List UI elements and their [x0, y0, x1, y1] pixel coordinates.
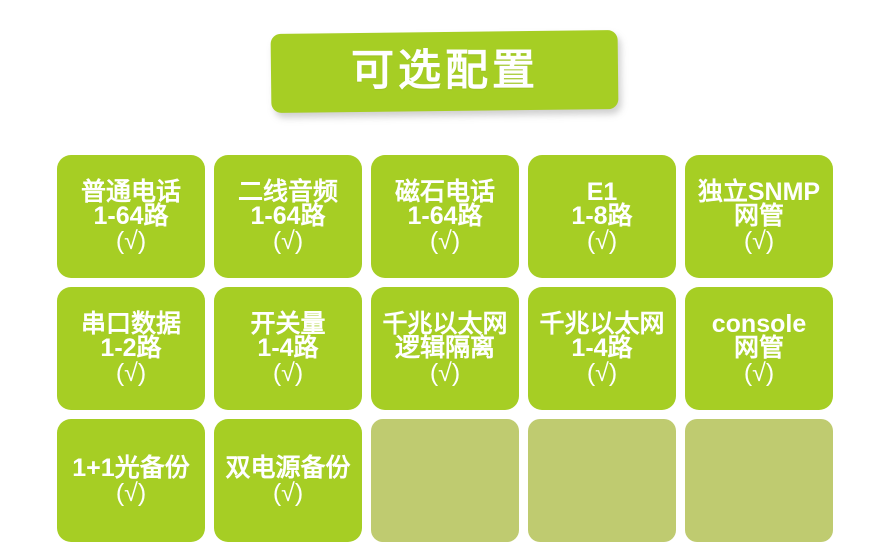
check-mark-label: (√) [57, 361, 205, 386]
card-two-wire-audio[interactable]: 二线音频1-64路(√) [214, 155, 362, 278]
card-line-label: 磁石电话 [371, 180, 519, 205]
card-line-label: 网管 [685, 336, 833, 361]
card-line-label: 1-8路 [528, 204, 676, 229]
card-plain-telephone[interactable]: 普通电话1-64路(√) [57, 155, 205, 278]
page-title: 可选配置 [351, 50, 539, 93]
card-line-label: 网管 [685, 204, 833, 229]
title-banner-shape: 可选配置 [271, 30, 619, 113]
card-row: 串口数据1-2路(√)开关量1-4路(√)千兆以太网逻辑隔离(√)千兆以太网1-… [57, 287, 835, 410]
card-standalone-snmp[interactable]: 独立SNMP网管(√) [685, 155, 833, 278]
check-mark-label: (√) [371, 229, 519, 254]
card-serial-data[interactable]: 串口数据1-2路(√) [57, 287, 205, 410]
card-gigabit-ethernet-logic-isolation[interactable]: 千兆以太网逻辑隔离(√) [371, 287, 519, 410]
card-line-label: 1-64路 [57, 204, 205, 229]
card-text: 千兆以太网逻辑隔离(√) [371, 312, 519, 386]
check-mark-label: (√) [214, 229, 362, 254]
card-text: console网管(√) [685, 312, 833, 386]
card-console-management[interactable]: console网管(√) [685, 287, 833, 410]
check-mark-label: (√) [214, 361, 362, 386]
check-mark-label: (√) [528, 229, 676, 254]
card-line-label: 1-4路 [214, 336, 362, 361]
check-mark-label: (√) [685, 361, 833, 386]
card-line-label: 普通电话 [57, 180, 205, 205]
card-dual-power-backup[interactable]: 双电源备份(√) [214, 419, 362, 542]
card-line-label: 双电源备份 [214, 456, 362, 481]
card-text: 1+1光备份(√) [57, 456, 205, 505]
card-line-label: 1+1光备份 [57, 456, 205, 481]
card-row: 1+1光备份(√)双电源备份(√) [57, 419, 835, 542]
card-e1[interactable]: E11-8路(√) [528, 155, 676, 278]
card-row: 普通电话1-64路(√)二线音频1-64路(√)磁石电话1-64路(√)E11-… [57, 155, 835, 278]
card-text: 千兆以太网1-4路(√) [528, 312, 676, 386]
card-placeholder-2 [528, 419, 676, 542]
card-line-label: 1-2路 [57, 336, 205, 361]
card-line-label: 串口数据 [57, 312, 205, 337]
check-mark-label: (√) [371, 361, 519, 386]
check-mark-label: (√) [57, 481, 205, 506]
card-switch-quantity[interactable]: 开关量1-4路(√) [214, 287, 362, 410]
card-placeholder-3 [685, 419, 833, 542]
check-mark-label: (√) [528, 361, 676, 386]
card-placeholder-1 [371, 419, 519, 542]
card-line-label: 逻辑隔离 [371, 336, 519, 361]
check-mark-label: (√) [57, 229, 205, 254]
card-line-label: 开关量 [214, 312, 362, 337]
card-line-label: E1 [528, 180, 676, 205]
card-optical-backup[interactable]: 1+1光备份(√) [57, 419, 205, 542]
card-text: 串口数据1-2路(√) [57, 312, 205, 386]
title-banner: 可选配置 [271, 32, 618, 111]
card-line-label: 独立SNMP [685, 180, 833, 205]
card-text: 双电源备份(√) [214, 456, 362, 505]
check-mark-label: (√) [685, 229, 833, 254]
card-line-label: 千兆以太网 [528, 312, 676, 337]
check-mark-label: (√) [214, 481, 362, 506]
card-text: 开关量1-4路(√) [214, 312, 362, 386]
card-text: 普通电话1-64路(√) [57, 180, 205, 254]
card-magneto-telephone[interactable]: 磁石电话1-64路(√) [371, 155, 519, 278]
card-line-label: 1-4路 [528, 336, 676, 361]
card-text: E11-8路(√) [528, 180, 676, 254]
card-line-label: 1-64路 [371, 204, 519, 229]
card-line-label: 1-64路 [214, 204, 362, 229]
card-line-label: 千兆以太网 [371, 312, 519, 337]
card-text: 独立SNMP网管(√) [685, 180, 833, 254]
card-gigabit-ethernet-ports[interactable]: 千兆以太网1-4路(√) [528, 287, 676, 410]
card-text: 二线音频1-64路(√) [214, 180, 362, 254]
option-card-grid: 普通电话1-64路(√)二线音频1-64路(√)磁石电话1-64路(√)E11-… [57, 155, 835, 551]
card-text: 磁石电话1-64路(√) [371, 180, 519, 254]
card-line-label: 二线音频 [214, 180, 362, 205]
card-line-label: console [685, 312, 833, 337]
